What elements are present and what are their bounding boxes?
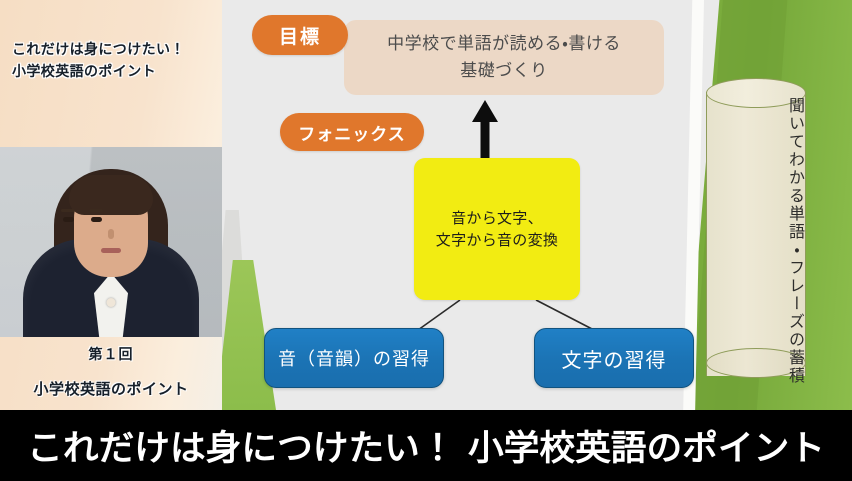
episode-number-label: 第１回 — [0, 344, 222, 364]
video-stage[interactable]: これだけは身につけたい！ 小学校英語のポイント 第１回 小学校 — [0, 0, 852, 410]
presenter-eyebrow-left — [61, 209, 75, 212]
slide-content: 中学校で単語が読める・書ける 基礎づくり 目標 フォニックス 音から文字、 文字… — [222, 0, 852, 410]
blue-box-phoneme-acquisition: 音（音韻）の習得 — [264, 328, 444, 388]
badge-goal: 目標 — [252, 15, 348, 55]
goal-box: 中学校で単語が読める・書ける 基礎づくり — [344, 20, 664, 95]
caption-bar: これだけは身につけたい！ 小学校英語のポイント — [0, 410, 852, 481]
yellow-box-line1: 音から文字、 — [451, 207, 543, 230]
yellow-box-line2: 文字から音の変換 — [436, 229, 558, 252]
blue-box-letter-acquisition: 文字の習得 — [534, 328, 694, 388]
episode-subtitle-label: 小学校英語のポイント — [0, 378, 222, 399]
presenter-eye-right — [91, 217, 102, 222]
presenter-video-still — [0, 147, 222, 337]
program-title-line2: 小学校英語のポイント — [12, 62, 217, 84]
goal-box-line2: 基礎づくり — [460, 58, 548, 84]
presenter-panel: これだけは身につけたい！ 小学校英語のポイント 第１回 小学校 — [0, 0, 222, 410]
vocabulary-cylinder: 聞いてわかる単語・フレーズの蓄積 — [706, 78, 806, 390]
presenter-eyebrow-right — [89, 209, 103, 212]
cylinder-label: 聞いてわかる単語・フレーズの蓄積 — [706, 116, 806, 366]
presenter-nose — [108, 229, 114, 239]
yellow-conversion-box: 音から文字、 文字から音の変換 — [414, 158, 580, 300]
goal-box-line1: 中学校で単語が読める・書ける — [387, 31, 621, 57]
presenter-fringe — [69, 175, 153, 215]
badge-phonics: フォニックス — [280, 113, 424, 151]
presenter-necklace — [107, 298, 116, 307]
presenter-eye-left — [63, 217, 74, 222]
presenter-mouth — [101, 248, 121, 253]
upward-arrow-icon — [470, 100, 500, 162]
program-title-line1: これだけは身につけたい！ — [12, 42, 185, 58]
program-title-overlay: これだけは身につけたい！ 小学校英語のポイント — [12, 40, 217, 83]
video-player-screen: これだけは身につけたい！ 小学校英語のポイント 第１回 小学校 — [0, 0, 852, 481]
caption-text: これだけは身につけたい！ 小学校英語のポイント — [27, 420, 825, 471]
